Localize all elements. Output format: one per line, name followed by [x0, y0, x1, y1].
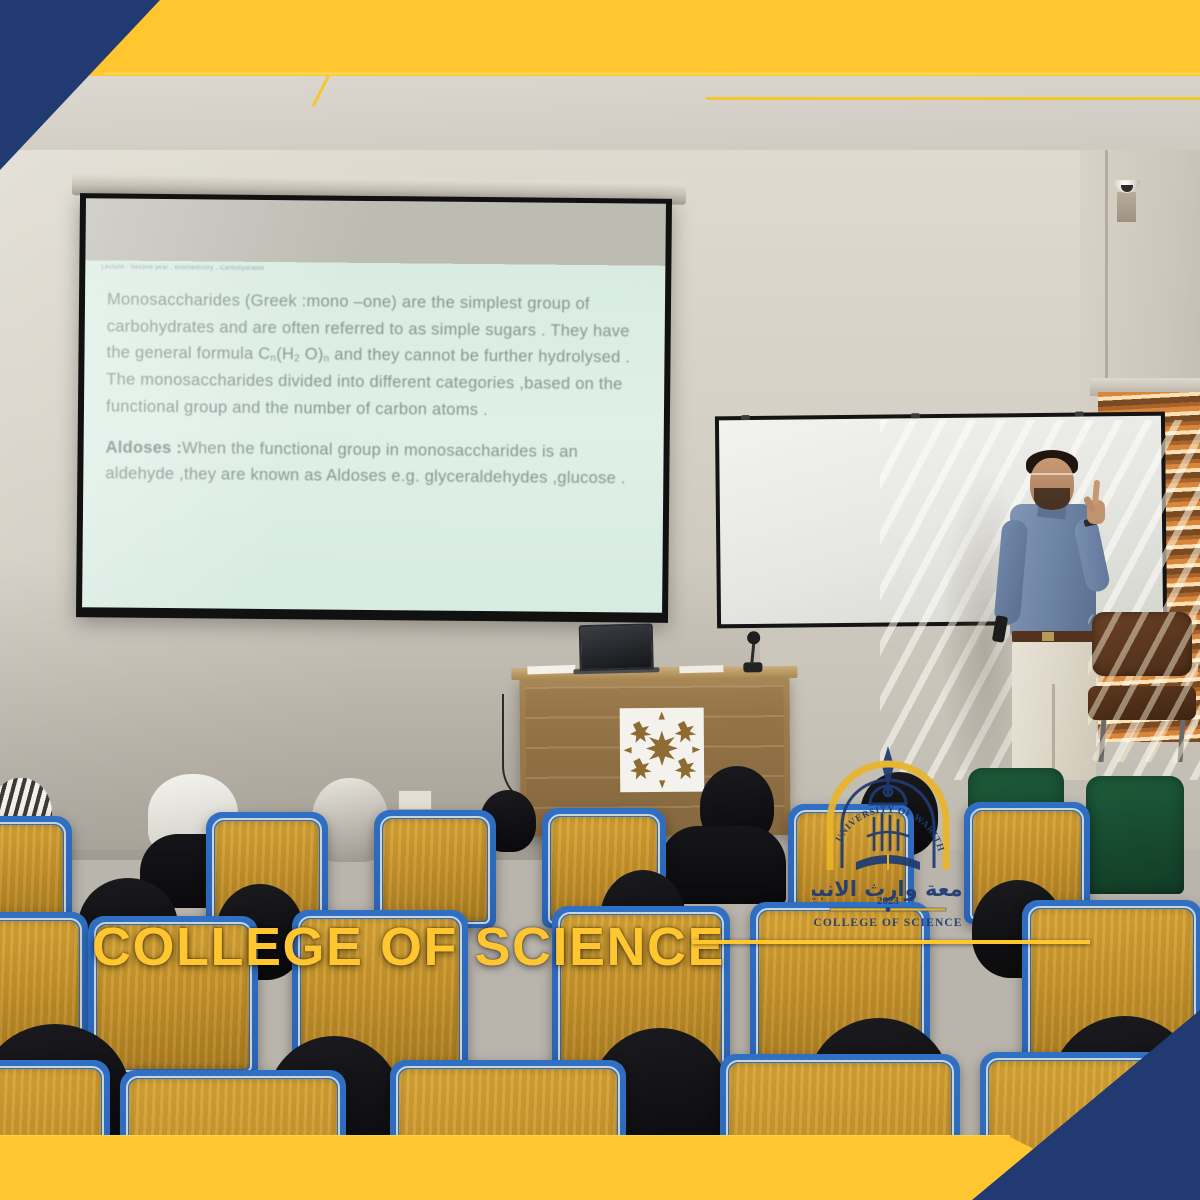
page-title: COLLEGE OF SCIENCE	[92, 916, 725, 978]
slide-paragraph-1c: O)	[300, 346, 324, 364]
podium-papers	[679, 665, 723, 673]
slide-paragraph-1b: (H	[276, 345, 294, 363]
microphone-head	[747, 631, 760, 644]
slide-header-note: Lecture : Second year , Biochemistry , C…	[101, 264, 264, 272]
chair-legs	[1098, 718, 1185, 762]
whiteboard-clip	[911, 413, 920, 418]
lecturer-glasses	[1030, 473, 1075, 481]
top-right-yellow-rule	[706, 97, 1200, 100]
lecturer-beard	[1034, 488, 1070, 510]
brown-office-chair	[1088, 612, 1198, 762]
laptop-icon	[579, 623, 654, 671]
chair-backrest	[1092, 612, 1192, 676]
podium-papers	[527, 665, 575, 675]
slide-paragraph-2-lead: Aldoses :	[106, 438, 183, 457]
top-band-hairline	[104, 72, 1200, 75]
top-yellow-band	[0, 0, 1200, 76]
lecture-hall-photo: Lecture : Second year , Biochemistry , C…	[0, 0, 1200, 1200]
logo-subtitle: COLLEGE OF SCIENCE	[813, 917, 962, 929]
whiteboard-clip	[1075, 411, 1084, 416]
university-logo: UNIVERSITY OF WARITH AL-ANBIYAA جامعة وا…	[812, 744, 964, 932]
ceiling-dome-camera-icon	[1114, 176, 1140, 192]
projection-screen: Lecture : Second year , Biochemistry , C…	[76, 193, 672, 623]
slide-paragraph-2: Aldoses :When the functional group in mo…	[105, 434, 647, 493]
logo-emblem-icon: UNIVERSITY OF WARITH AL-ANBIYAA جامعة وا…	[812, 744, 964, 932]
lecturer-raised-hand	[1086, 480, 1106, 526]
whiteboard-clip	[741, 415, 750, 420]
slide-paragraph-2-text: When the functional group in monosacchar…	[105, 439, 625, 488]
camera-mount	[1117, 192, 1136, 222]
microphone-neck	[750, 642, 755, 664]
logo-year: 2023	[877, 895, 900, 907]
poster-canvas: Lecture : Second year , Biochemistry , C…	[0, 0, 1200, 1200]
presentation-clicker	[992, 615, 1008, 643]
headline-rule	[692, 940, 1090, 944]
slide-body-text: Monosaccharides (Greek :mono –one) are t…	[105, 286, 649, 506]
lecturer-belt-buckle	[1042, 632, 1054, 641]
slide-paragraph-1: Monosaccharides (Greek :mono –one) are t…	[106, 286, 649, 425]
audience-seating	[0, 760, 1200, 1200]
chair-seat	[1088, 686, 1196, 720]
projection-screen-surface: Lecture : Second year , Biochemistry , C…	[82, 198, 666, 613]
microphone-icon	[741, 631, 763, 671]
